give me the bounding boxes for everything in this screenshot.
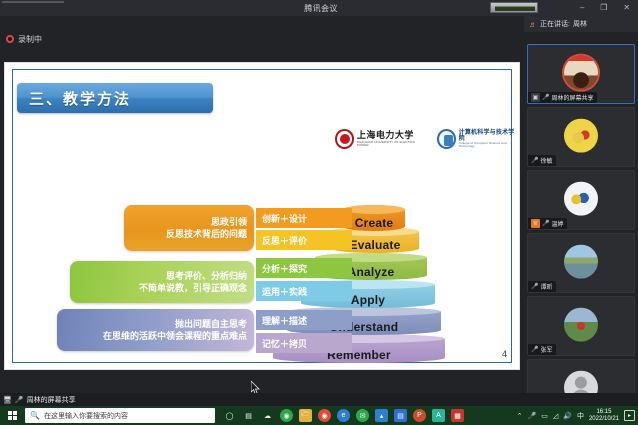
powerpoint-icon[interactable]: P [413,409,426,422]
camera-tray-icon[interactable]: ▭ [541,412,548,420]
cortana-icon[interactable]: ▤ [242,409,255,422]
college-logo-text: 计算机科学与技术学院 College of Computer Science a… [459,130,519,149]
participant-tile-1[interactable]: ▣ 🎤 周林的屏幕共享 [527,44,635,104]
webcam-strip-icon [490,2,538,13]
avatar [564,56,598,90]
mic-muted-icon: 🎤 [531,157,538,164]
annotation-blue-line-2: 在思维的活跃中领会课程的重点难点 [103,330,247,342]
pyramid-level-create: Create [343,205,405,231]
search-input[interactable]: 🔍 在这里输入你要搜索的内容 [25,408,215,423]
participant-sidebar[interactable]: ▣ 🎤 周林的屏幕共享 🎤 徐敏 ♕ 🎤 [524,32,638,409]
window-controls: – ❐ ✕ [572,0,638,16]
seal-blue-icon [437,129,456,149]
tag-create: 创新＋设计 [256,208,352,228]
avatar [564,182,598,216]
mic-icon: 🎤 [542,94,549,101]
taskbar-pinned-apps: ◯ ▤ ☁ ◉ 🗁 ◉ e ✉ ▴ ▤ P A ▦ [223,409,464,422]
participant-grid: ▣ 🎤 周林的屏幕共享 🎤 徐敏 ♕ 🎤 [524,32,638,409]
mic-muted-icon: 🎤 [542,220,549,227]
slide-page-number: 4 [502,349,507,359]
annotation-blue-line-1: 抛出问题自主思考 [175,318,247,330]
speaking-prefix: 正在讲话: [540,19,570,29]
participant-name-1: 周林的屏幕共享 [551,93,593,102]
annotation-orange-line-2: 反思技术背后的问题 [166,228,247,240]
tag-evaluate: 反思＋评价 [256,230,352,250]
system-tray: ⌃ 🎤 ▭ ◿ 🔊 中 16:15 2022/10/21 ▸ [517,406,635,425]
blooms-taxonomy-diagram: 抛出问题自主思考 在思维的活跃中领会课程的重点难点 思考评价、分析归纳 不简单说… [115,205,425,370]
participant-name-4: 谭昕 [540,282,552,291]
annotation-box-green: 思考评价、分析归纳 不简单说教，引导正确观念 [70,261,254,303]
slide-logos: 上海电力大学 SHANGHAI UNIVERSITY OF ELECTRIC P… [335,129,519,149]
network-icon[interactable]: ◿ [553,412,558,420]
file-explorer-icon[interactable]: 🗁 [299,409,312,422]
speaker-icon: ♬ [529,20,537,29]
college-logo: 计算机科学与技术学院 College of Computer Science a… [437,129,519,149]
tag-remember: 记忆＋拷贝 [256,333,352,353]
screen-share-status-bar: 🖥 🎤 周林的屏幕共享 [0,393,638,406]
edge-icon[interactable]: e [337,409,350,422]
recording-indicator: 录制中 [0,30,524,48]
slide-title-pill: 三、教学方法 [17,83,213,113]
screen: 腾讯会议 – ❐ ✕ 录制中 三、教学方法 [0,0,638,425]
participant-name-2: 徐敏 [540,156,552,165]
participant-nameplate-2: 🎤 徐敏 [528,155,556,166]
participant-tile-3[interactable]: ♕ 🎤 温婷 [527,170,635,230]
shared-screen-area[interactable]: 三、教学方法 上海电力大学 SHANGHAI UNIVERSITY OF ELE… [4,62,520,370]
volume-icon[interactable]: 🔊 [563,412,572,420]
office-icon[interactable]: ▤ [394,409,407,422]
chrome-2-icon[interactable]: ◉ [318,409,331,422]
chrome-icon[interactable]: ◉ [280,409,293,422]
mic-tray-icon[interactable]: 🎤 [528,412,537,420]
participant-nameplate-3: ♕ 🎤 温婷 [528,218,567,229]
participant-nameplate-4: 🎤 谭昕 [528,281,556,292]
host-badge-icon: ♕ [531,219,540,228]
participant-tile-5[interactable]: 🎤 张军 [527,296,635,356]
titlebar-strip [2,1,64,3]
start-button[interactable] [0,406,24,425]
annotation-box-orange: 思政引领 反思技术背后的问题 [124,205,254,251]
participant-tile-4[interactable]: 🎤 谭昕 [527,233,635,293]
annotation-green-line-2: 不简单说教，引导正确观念 [139,282,247,294]
mic-muted-icon: 🎤 [531,283,538,290]
recording-label: 录制中 [18,34,42,45]
webcam-strip-inner [495,6,535,11]
search-icon: 🔍 [30,411,40,420]
screen-share-icon: ▣ [531,93,540,102]
clock-date: 2022/10/21 [589,416,619,422]
record-dot-icon [6,35,14,43]
participant-nameplate-5: 🎤 张军 [528,344,556,355]
pyramid-level-create-top [343,205,405,214]
university-logo-text: 上海电力大学 SHANGHAI UNIVERSITY OF ELECTRIC P… [357,131,423,147]
app-grid-icon[interactable]: ▦ [451,409,464,422]
share-status-label: 周林的屏幕共享 [27,395,76,405]
presentation-slide: 三、教学方法 上海电力大学 SHANGHAI UNIVERSITY OF ELE… [4,62,520,370]
pyramid-label-create: Create [343,216,405,230]
tencent-meeting-icon[interactable]: ▴ [375,409,388,422]
participant-name-5: 张军 [540,345,552,354]
university-name-en: SHANGHAI UNIVERSITY OF ELECTRIC POWER [357,141,423,147]
minimize-button[interactable]: – [580,4,584,12]
annotation-orange-line-1: 思政引领 [211,216,247,228]
task-view-icon[interactable]: ◯ [223,409,236,422]
weather-icon[interactable]: ☁ [261,409,274,422]
college-name-en: College of Computer Science and Technolo… [459,142,519,148]
tag-apply: 运用＋实践 [256,281,352,301]
chevron-up-icon[interactable]: ⌃ [517,412,523,420]
avatar [564,119,598,153]
restore-button[interactable]: ❐ [600,4,607,12]
monitor-icon: 🖥 [3,396,12,404]
mic-muted-icon: 🎤 [531,346,538,353]
seal-red-icon [335,129,354,149]
annotation-green-line-1: 思考评价、分析归纳 [166,270,247,282]
titlebar-left-spacer [0,0,70,16]
meeting-window: 录制中 三、教学方法 上海电力大学 SHANGHAI UNIVERSITY OF… [0,16,638,393]
windows-logo-icon [8,411,17,420]
tag-understand: 理解＋描述 [256,310,352,330]
speaking-name: 周林 [573,19,587,29]
wechat-icon[interactable]: ✉ [356,409,369,422]
ime-icon[interactable]: 中 [577,411,584,421]
active-speaker-banner: ♬ 正在讲话: 周林 [524,16,638,32]
taskbar-clock[interactable]: 16:15 2022/10/21 [589,409,619,422]
search-placeholder: 在这里输入你要搜索的内容 [44,411,128,421]
window-titlebar: 腾讯会议 – ❐ ✕ [0,0,638,16]
slide-title-text: 三、教学方法 [29,88,131,109]
university-logo: 上海电力大学 SHANGHAI UNIVERSITY OF ELECTRIC P… [335,129,423,149]
close-button[interactable]: ✕ [623,4,630,12]
annotation-box-blue: 抛出问题自主思考 在思维的活跃中领会课程的重点难点 [57,309,254,351]
mic-icon: 🎤 [15,396,24,404]
participant-nameplate-1: ▣ 🎤 周林的屏幕共享 [528,92,597,103]
windows-taskbar: 🔍 在这里输入你要搜索的内容 ◯ ▤ ☁ ◉ 🗁 ◉ e ✉ ▴ ▤ P A ▦… [0,406,638,425]
notification-icon[interactable]: ▸ [624,410,635,421]
tag-analyze: 分析＋探究 [256,258,352,278]
pdf-icon[interactable]: A [432,409,445,422]
avatar [564,308,598,342]
avatar [564,245,598,279]
participant-tile-2[interactable]: 🎤 徐敏 [527,107,635,167]
participant-name-3: 温婷 [551,219,563,228]
